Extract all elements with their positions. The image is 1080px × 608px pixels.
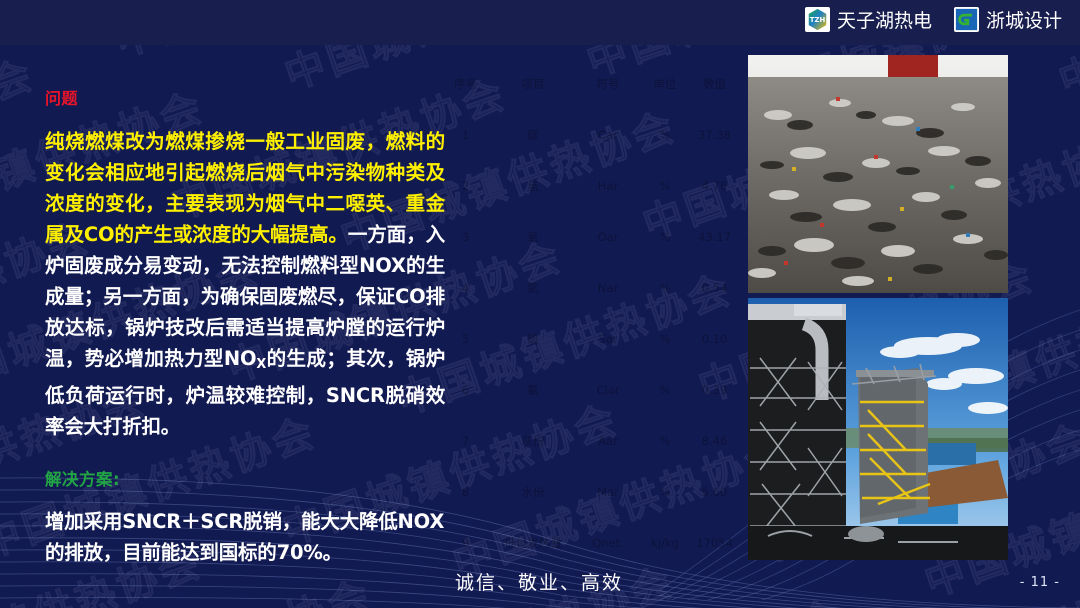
table-cell: Har — [575, 160, 641, 211]
table-cell: 硫 — [491, 313, 575, 364]
table-cell: % — [641, 415, 689, 466]
table-row: 2氢Har%4.76 — [440, 160, 740, 211]
table-cell: 0.39 — [689, 364, 740, 415]
logo-zhecheng: 浙城设计 — [954, 6, 1062, 33]
table-row: 5硫Sar%0.10 — [440, 313, 740, 364]
slide-root: 中国城镇供热协会 中国城镇供热协会 中国城镇供热协会 中国城镇供热协会 中国城镇… — [0, 0, 1080, 608]
table-cell: % — [641, 211, 689, 262]
table-cell: 17054 — [689, 517, 740, 568]
table-cell: Car — [575, 109, 641, 160]
table-cell: Nar — [575, 262, 641, 313]
problem-paragraph: 纯烧燃煤改为燃煤掺烧一般工业固废，燃料的变化会相应地引起燃烧后烟气中污染物种类及… — [45, 126, 445, 442]
table-cell: % — [641, 313, 689, 364]
table-cell: 2 — [440, 160, 491, 211]
logo-tianzihu: TZH 天子湖热电 — [805, 6, 932, 33]
solution-paragraph: 增加采用SNCR＋SCR脱销，能大大降低NOX的排放，目前能达到国标的70%。 — [45, 506, 445, 568]
table-row: 9低位发热量Qnet.kJ/kg17054 — [440, 517, 740, 568]
table-cell: 5.60 — [689, 466, 740, 517]
table-cell: 氧 — [491, 211, 575, 262]
logo-group: TZH 天子湖热电 浙城设计 — [805, 6, 1062, 33]
content-column: 问题 纯烧燃煤改为燃煤掺烧一般工业固废，燃料的变化会相应地引起燃烧后烟气中污染物… — [45, 85, 445, 568]
table-header-cell: 单位 — [641, 58, 689, 109]
table-cell: 37.38 — [689, 109, 740, 160]
zhecheng-g-logo-icon — [954, 7, 979, 32]
boiler-plant-photo — [748, 298, 1008, 560]
table-cell: 8.46 — [689, 415, 740, 466]
problem-text-subscript: X — [256, 357, 266, 372]
table-cell: 3 — [440, 211, 491, 262]
table-cell: 氯 — [491, 364, 575, 415]
table-row: 6氯Clar%0.39 — [440, 364, 740, 415]
table-header-cell: 数值 — [689, 58, 740, 109]
table-cell: 碳 — [491, 109, 575, 160]
table-cell: 氮 — [491, 262, 575, 313]
table-row: 3氧Oar%43.17 — [440, 211, 740, 262]
fuel-analysis-table: 序号 项目 符号 单位 数值 1碳Car%37.382氢Har%4.763氧Oa… — [440, 58, 740, 573]
table-cell: 0.54 — [689, 262, 740, 313]
table-row: 4氮Nar%0.54 — [440, 262, 740, 313]
table-cell: 43.17 — [689, 211, 740, 262]
table-row: 8水份Mar%5.60 — [440, 466, 740, 517]
table-cell: Clar — [575, 364, 641, 415]
table-header-cell: 符号 — [575, 58, 641, 109]
table-header-cell: 序号 — [440, 58, 491, 109]
footer-slogan: 诚信、敬业、高效 — [455, 568, 623, 595]
table-row: 7灰份Aar%8.46 — [440, 415, 740, 466]
table-cell: % — [641, 262, 689, 313]
page-number: - 11 - — [1020, 575, 1060, 590]
table-cell: 4.76 — [689, 160, 740, 211]
solution-label: 解决方案: — [45, 466, 445, 490]
table-cell: % — [641, 160, 689, 211]
table-cell: 7 — [440, 415, 491, 466]
table-cell: 水份 — [491, 466, 575, 517]
table-cell: 6 — [440, 364, 491, 415]
table-cell: 9 — [440, 517, 491, 568]
table-cell: Mar — [575, 466, 641, 517]
table-cell: Oar — [575, 211, 641, 262]
table-row: 1碳Car%37.38 — [440, 109, 740, 160]
problem-label: 问题 — [45, 85, 445, 109]
table-cell: % — [641, 109, 689, 160]
table-cell: 5 — [440, 313, 491, 364]
table-cell: 0.10 — [689, 313, 740, 364]
table-cell: % — [641, 466, 689, 517]
solid-waste-pile-photo — [748, 55, 1008, 293]
table-cell: 1 — [440, 109, 491, 160]
table-cell: 氢 — [491, 160, 575, 211]
table-cell: Qnet. — [575, 517, 641, 568]
table-header-row: 序号 项目 符号 单位 数值 — [440, 58, 740, 109]
table-cell: % — [641, 364, 689, 415]
logo-tianzihu-label: 天子湖热电 — [837, 6, 932, 33]
table-cell: Sar — [575, 313, 641, 364]
table-cell: 4 — [440, 262, 491, 313]
table-cell: 8 — [440, 466, 491, 517]
table-cell: kJ/kg — [641, 517, 689, 568]
tianzihu-hexagon-logo-icon: TZH — [805, 7, 830, 32]
svg-text:TZH: TZH — [810, 16, 826, 24]
table-cell: Aar — [575, 415, 641, 466]
table-header-cell: 项目 — [491, 58, 575, 109]
table-cell: 灰份 — [491, 415, 575, 466]
logo-zhecheng-label: 浙城设计 — [986, 6, 1062, 33]
table-cell: 低位发热量 — [491, 517, 575, 568]
